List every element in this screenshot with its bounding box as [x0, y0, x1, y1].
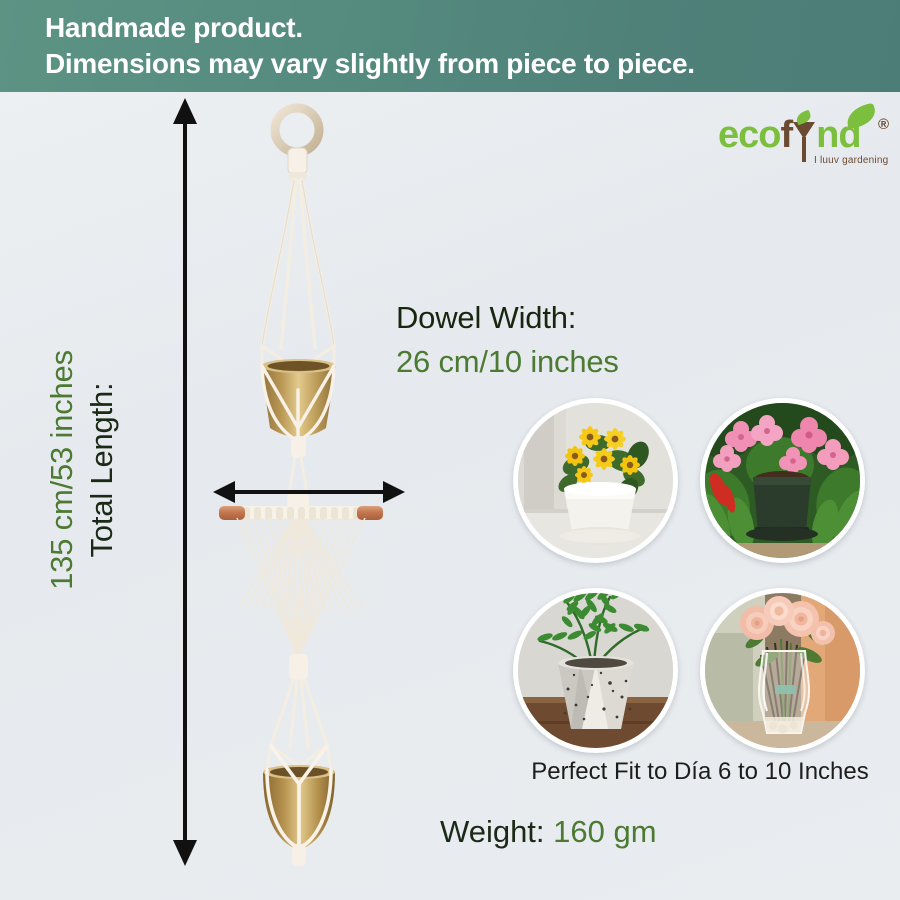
header-line-2: Dimensions may vary slightly from piece … — [45, 48, 695, 80]
weight-label: Weight: — [440, 814, 545, 849]
header-line-1: Handmade product. — [45, 12, 303, 44]
wooden-ring-icon — [275, 108, 319, 152]
dowel-width-value: 26 cm/10 inches — [396, 344, 619, 380]
dowel-width-dimension-arrow — [213, 478, 405, 506]
weight-caption: Weight: 160 gm — [440, 814, 657, 850]
perfect-fit-caption: Perfect Fit to Día 6 to 10 Inches — [505, 758, 895, 786]
total-length-label: Total Length: — [84, 383, 119, 558]
logo-text-eco: eco — [718, 114, 780, 156]
photo-fern-speckled-concrete-pot — [513, 588, 678, 753]
dowel-width-text-block: Dowel Width: 26 cm/10 inches — [396, 300, 619, 380]
total-length-dimension-arrow — [172, 98, 198, 866]
header-banner: Handmade product. Dimensions may vary sl… — [0, 0, 900, 92]
dowel-copper-tip-right — [357, 506, 383, 520]
dowel-width-label: Dowel Width: — [396, 300, 619, 336]
logo-tagline: I luuv gardening — [814, 155, 888, 166]
weight-value: 160 gm — [553, 814, 656, 849]
leaf-icon-large — [844, 103, 878, 130]
total-length-value: 135 cm/53 inches — [44, 350, 79, 590]
photo-peach-roses-glass-vase — [700, 588, 865, 753]
photo-yellow-daisies-white-ceramic-pot — [513, 398, 678, 563]
wooden-dowel — [219, 506, 383, 520]
brand-logo: ecofnd ® I luuv gardening — [718, 108, 890, 170]
registered-trademark-icon: ® — [878, 116, 889, 133]
dowel-copper-tip-left — [219, 506, 245, 520]
photo-pink-azalea-dark-nursery-pot — [700, 398, 865, 563]
product-infographic: Handmade product. Dimensions may vary sl… — [0, 0, 900, 900]
logo-text-f: f — [780, 114, 792, 156]
funnel-plant-icon — [793, 122, 815, 162]
logo-wordmark: ecofnd — [718, 116, 861, 154]
